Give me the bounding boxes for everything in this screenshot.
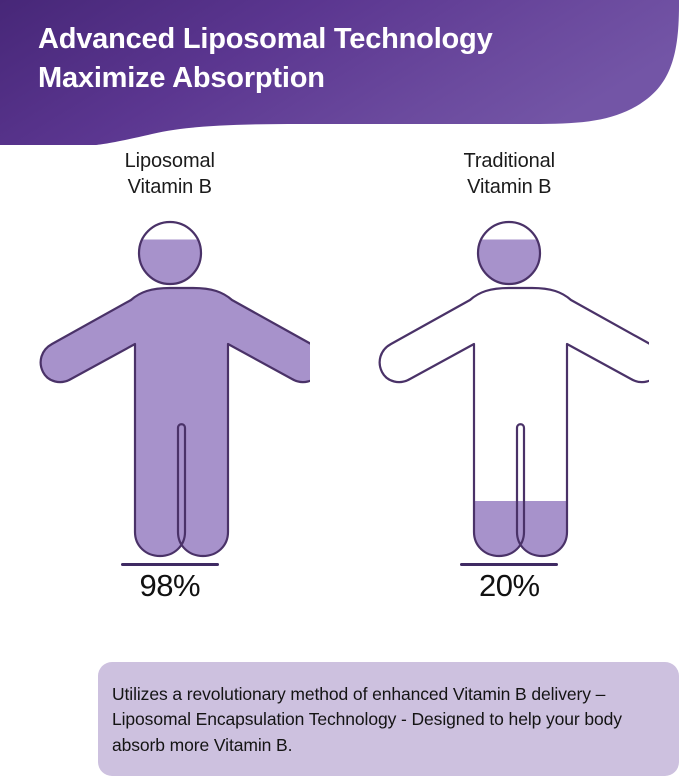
comparison-column-liposomal: Liposomal Vitamin B: [0, 145, 340, 645]
figure-body: [380, 288, 649, 556]
column-label-liposomal: Liposomal Vitamin B: [125, 149, 215, 200]
percent-block-traditional: 20%: [460, 563, 558, 604]
percent-value-traditional: 20%: [479, 568, 540, 604]
human-figure-filled-icon: [30, 216, 310, 561]
page-title: Advanced Liposomal Technology Maximize A…: [38, 20, 638, 97]
footer-callout: Utilizes a revolutionary method of enhan…: [98, 662, 679, 776]
comparison-section: Liposomal Vitamin B: [0, 145, 679, 645]
percent-block-liposomal: 98%: [121, 563, 219, 604]
figure-head: [139, 222, 201, 284]
column-label-traditional: Traditional Vitamin B: [463, 149, 555, 200]
comparison-column-traditional: Traditional Vitamin B: [340, 145, 679, 645]
header-banner: Advanced Liposomal Technology Maximize A…: [0, 0, 679, 145]
figure-container-liposomal: [30, 216, 310, 561]
footer-callout-text: Utilizes a revolutionary method of enhan…: [112, 682, 661, 758]
percent-value-liposomal: 98%: [139, 568, 200, 604]
figure-body: [40, 288, 309, 556]
figure-head: [478, 222, 540, 284]
figure-container-traditional: [369, 216, 649, 561]
percent-rule: [460, 563, 558, 566]
percent-rule: [121, 563, 219, 566]
human-figure-empty-icon: [369, 216, 649, 561]
